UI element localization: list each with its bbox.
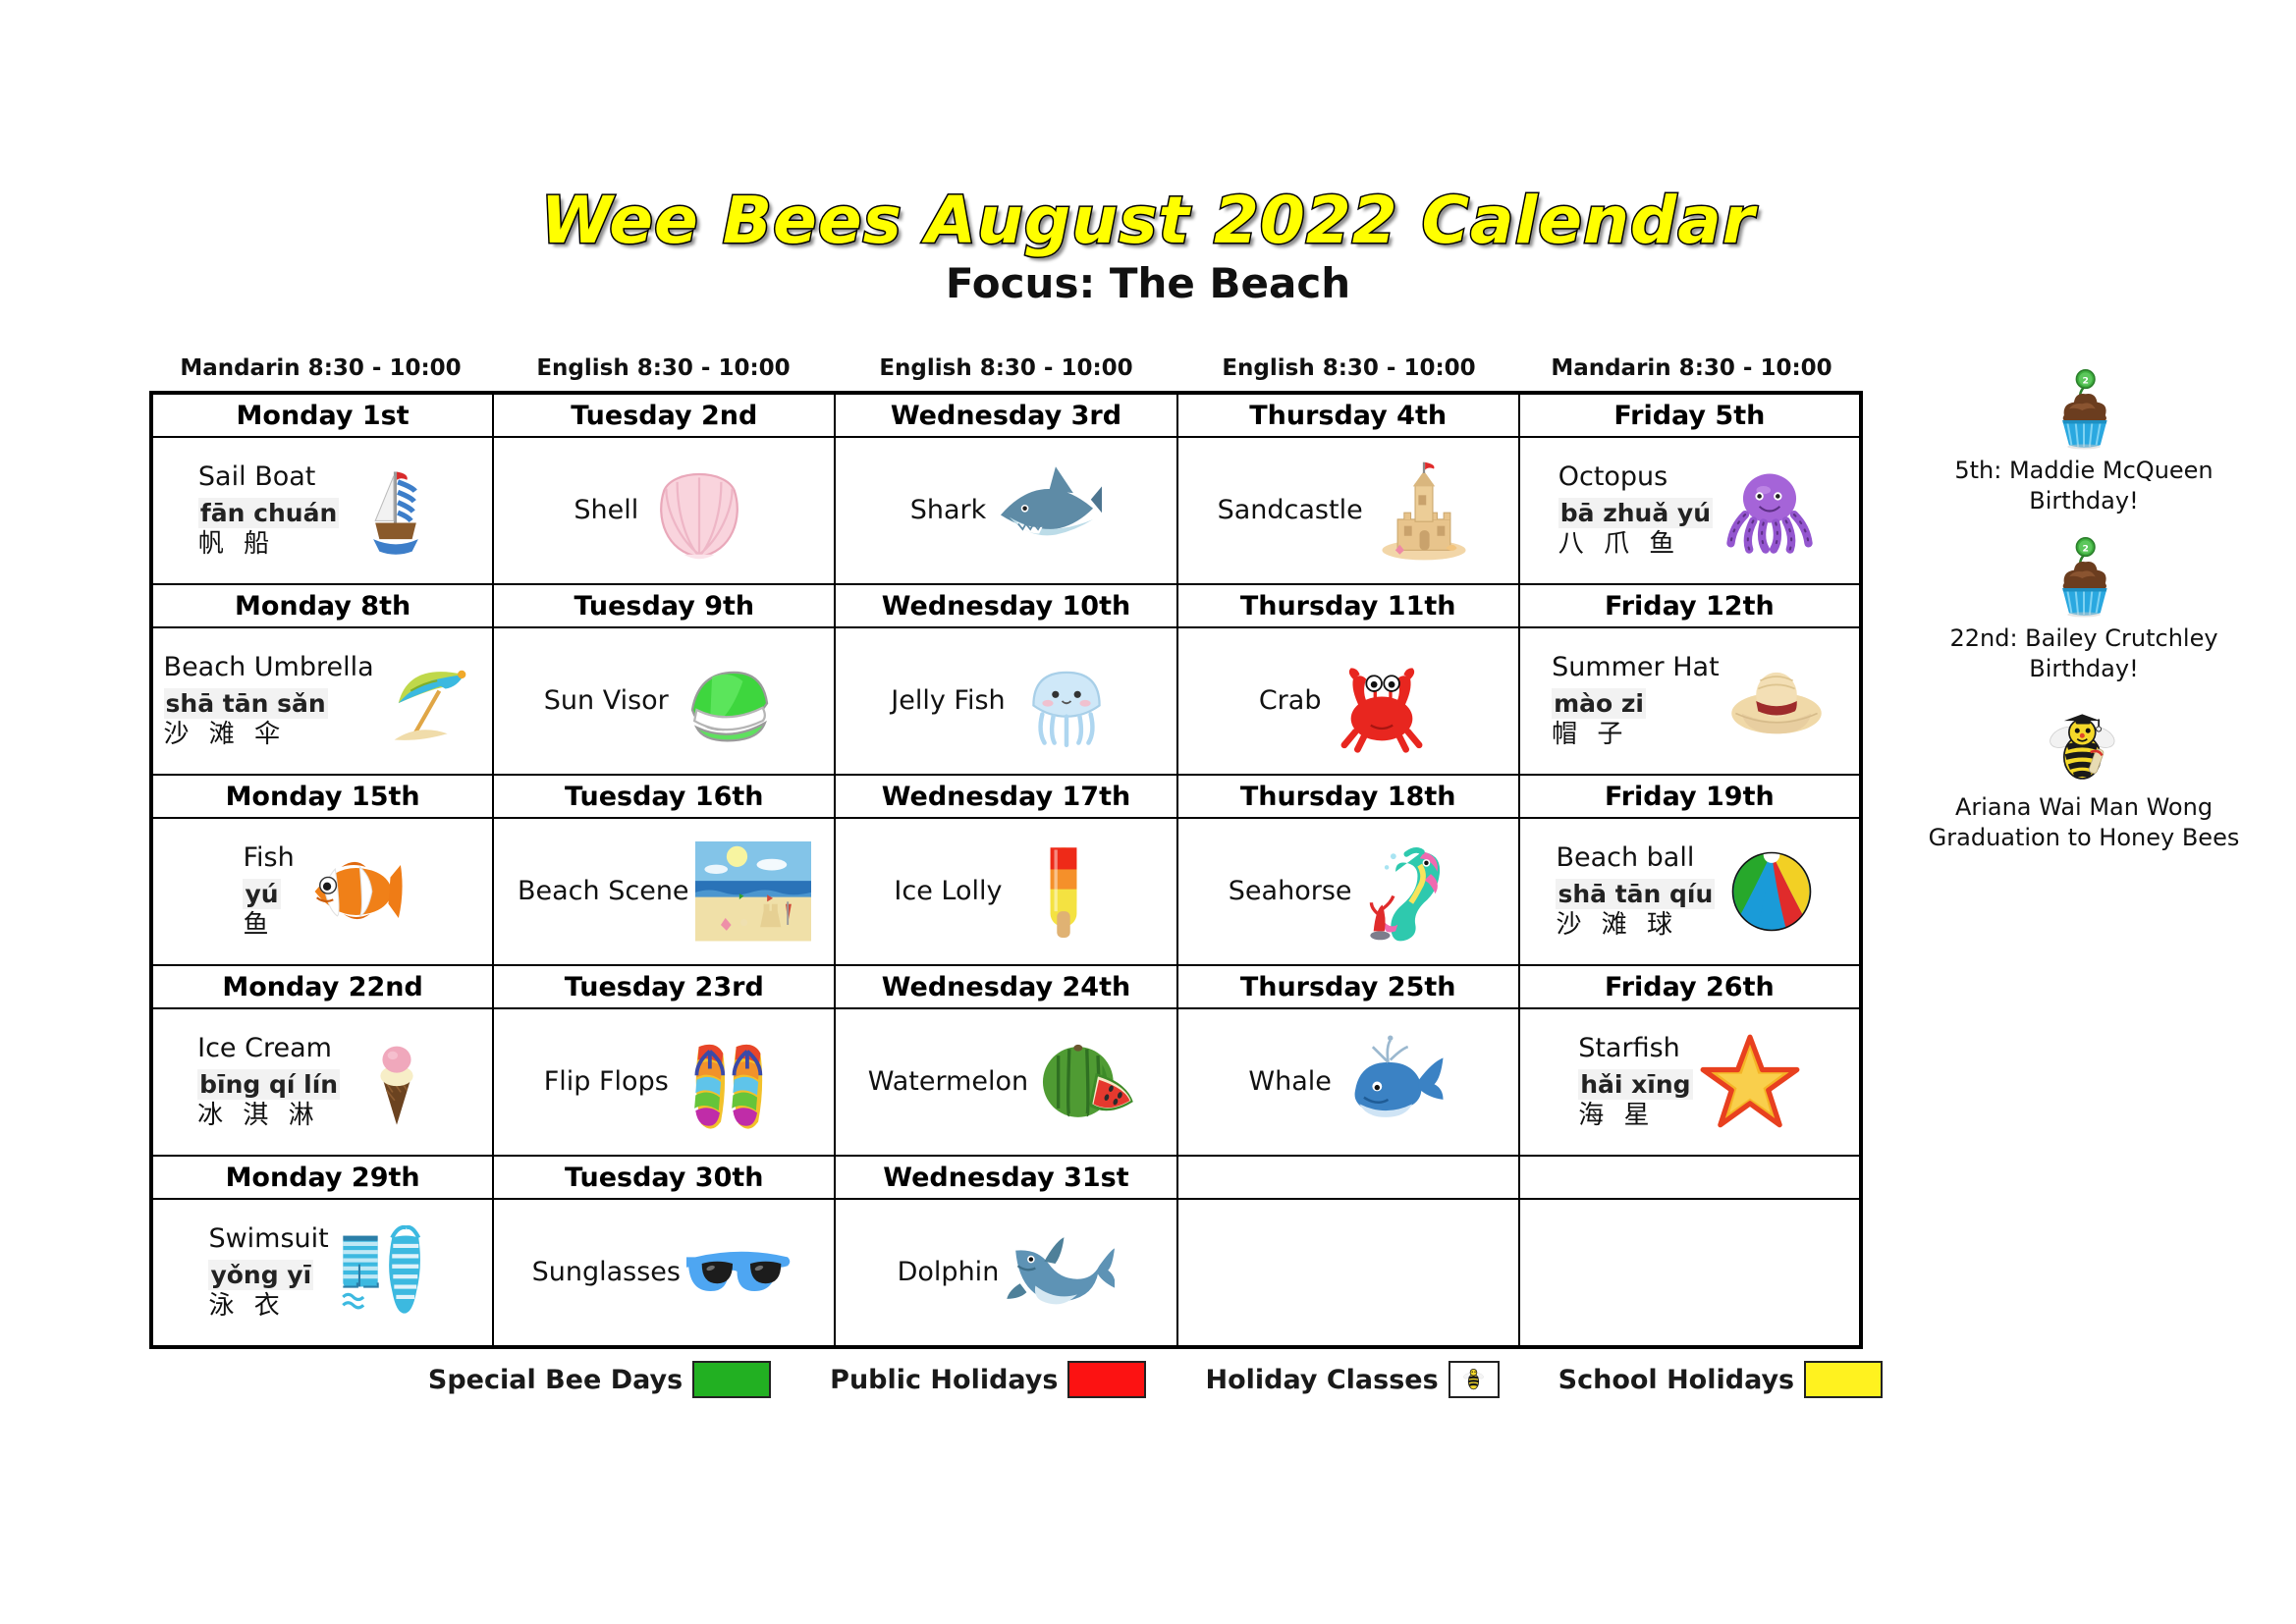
vocab-english: Jelly Fish <box>891 685 1005 718</box>
sidebar-event-caption: Ariana Wai Man Wong Graduation to Honey … <box>1922 792 2246 852</box>
vocab-chinese: 帆 船 <box>198 528 275 561</box>
vocab-english: Sunglasses <box>532 1257 681 1289</box>
day-cell-inner: Dolphin <box>836 1200 1175 1345</box>
timeslot-wednesday: English 8:30 - 10:00 <box>835 355 1177 391</box>
timeslot-tuesday: English 8:30 - 10:00 <box>492 355 835 391</box>
vocab-text-block: Sail Boatfān chuán帆 船 <box>198 461 339 561</box>
vocab-text-block: Fishyú鱼 <box>243 842 294 942</box>
day-cell-inner <box>1520 1200 1859 1345</box>
date-header-cell: Tuesday 9th <box>493 584 835 627</box>
vocab-english: Watermelon <box>868 1066 1028 1099</box>
day-cell-inner: Flip Flops <box>494 1009 834 1155</box>
legend-item: School Holidays <box>1558 1361 1883 1398</box>
day-cell-inner: Fishyú鱼 <box>153 819 492 964</box>
calendar-day-cell[interactable]: Sun Visor <box>493 627 835 775</box>
vocab-text-block: Shark <box>910 495 987 527</box>
sidebar-event-item: Ariana Wai Man Wong Graduation to Honey … <box>1922 704 2246 852</box>
svg-text:2: 2 <box>2082 544 2088 555</box>
legend-color-swatch <box>692 1361 771 1398</box>
timeslot-header-row: Mandarin 8:30 - 10:00 English 8:30 - 10:… <box>149 355 1863 391</box>
date-header-cell: Monday 29th <box>151 1156 493 1199</box>
day-cell-inner: Starfishhǎi xīng海 星 <box>1520 1009 1859 1155</box>
vocab-text-block: Jelly Fish <box>891 685 1005 718</box>
vocab-english: Starfish <box>1578 1033 1680 1065</box>
sidebar-event-item: 2 22nd: Bailey Crutchley Birthday! <box>1922 535 2246 683</box>
day-cell-inner: Sail Boatfān chuán帆 船 <box>153 438 492 583</box>
vocab-english: Dolphin <box>898 1257 1000 1289</box>
timeslot-friday: Mandarin 8:30 - 10:00 <box>1520 355 1863 391</box>
date-header-cell: Thursday 25th <box>1177 965 1519 1008</box>
vocab-english: Crab <box>1259 685 1322 718</box>
calendar-day-cell[interactable]: Beach ballshā tān qíu沙 滩 球 <box>1519 818 1861 965</box>
calendar-content-row: Sail Boatfān chuán帆 船 Shell Shark Sandca… <box>151 437 1861 584</box>
vocab-chinese: 沙 滩 伞 <box>164 719 287 751</box>
vocab-text-block: Sunglasses <box>532 1257 681 1289</box>
legend-label: Holiday Classes <box>1205 1365 1438 1395</box>
date-header-cell: Thursday 11th <box>1177 584 1519 627</box>
day-cell-inner: Whale <box>1178 1009 1518 1155</box>
vocab-english: Whale <box>1248 1066 1331 1099</box>
cupcake-icon: 2 <box>1922 535 2246 620</box>
calendar-day-cell[interactable]: Swimsuityǒng yī泳 衣 <box>151 1199 493 1347</box>
calendar-day-cell[interactable]: Octopusbā zhuǎ yú八 爪 鱼 <box>1519 437 1861 584</box>
vocab-text-block: Seahorse <box>1229 876 1352 908</box>
vocab-english: Sandcastle <box>1218 495 1363 527</box>
day-cell-inner: Ice Lolly <box>836 819 1175 964</box>
calendar-table: Monday 1stTuesday 2ndWednesday 3rdThursd… <box>149 391 1863 1349</box>
timeslot-monday: Mandarin 8:30 - 10:00 <box>149 355 492 391</box>
legend-item: Public Holidays <box>830 1361 1146 1398</box>
calendar-day-cell[interactable]: Ice Lolly <box>835 818 1176 965</box>
starfish-icon <box>1699 1031 1801 1133</box>
day-cell-inner: Octopusbā zhuǎ yú八 爪 鱼 <box>1520 438 1859 583</box>
date-header-cell: Monday 8th <box>151 584 493 627</box>
clownfish-icon <box>301 840 403 943</box>
vocab-chinese: 鱼 <box>243 909 274 942</box>
date-header-cell: Tuesday 16th <box>493 775 835 818</box>
vocab-text-block: Beach Umbrellashā tān sǎn沙 滩 伞 <box>164 652 374 751</box>
date-header-cell: Friday 19th <box>1519 775 1861 818</box>
calendar-day-cell[interactable]: Seahorse <box>1177 818 1519 965</box>
calendar-date-row: Monday 22ndTuesday 23rdWednesday 24thThu… <box>151 965 1861 1008</box>
vocab-text-block: Watermelon <box>868 1066 1028 1099</box>
vocab-chinese: 帽 子 <box>1552 719 1628 751</box>
vocab-text-block: Starfishhǎi xīng海 星 <box>1578 1033 1692 1132</box>
calendar-content-row: Swimsuityǒng yī泳 衣 Sunglasses Dolphin <box>151 1199 1861 1347</box>
calendar-content-row: Fishyú鱼 Beach Scene <box>151 818 1861 965</box>
vocab-pinyin: hǎi xīng <box>1578 1069 1692 1100</box>
legend-color-swatch <box>1067 1361 1146 1398</box>
day-cell-inner: Shark <box>836 438 1175 583</box>
vocab-english: Sun Visor <box>544 685 669 718</box>
vocab-text-block: Crab <box>1259 685 1322 718</box>
date-header-cell: Tuesday 2nd <box>493 393 835 437</box>
content-row: Mandarin 8:30 - 10:00 English 8:30 - 10:… <box>0 355 2296 1398</box>
day-cell-inner: Beach Scene <box>494 819 834 964</box>
page-body: Mandarin 8:30 - 10:00 English 8:30 - 10:… <box>0 355 2296 1398</box>
legend-color-swatch <box>1804 1361 1883 1398</box>
vocab-english: Fish <box>243 842 294 875</box>
calendar-day-cell[interactable]: Flip Flops <box>493 1008 835 1156</box>
vocab-chinese: 海 星 <box>1578 1100 1655 1132</box>
date-header-cell: Wednesday 31st <box>835 1156 1176 1199</box>
date-header-cell: Monday 22nd <box>151 965 493 1008</box>
vocab-chinese: 冰 淇 淋 <box>197 1100 320 1132</box>
vocab-english: Shark <box>910 495 987 527</box>
legend-label: School Holidays <box>1558 1365 1794 1395</box>
calendar-day-cell[interactable]: Fishyú鱼 <box>151 818 493 965</box>
beach-ball-icon <box>1721 840 1823 943</box>
calendar-date-row: Monday 29thTuesday 30thWednesday 31st <box>151 1156 1861 1199</box>
shark-icon <box>992 456 1102 566</box>
sandcastle-icon <box>1369 456 1479 566</box>
vocab-text-block: Beach ballshā tān qíu沙 滩 球 <box>1556 842 1715 942</box>
calendar-date-row: Monday 1stTuesday 2ndWednesday 3rdThursd… <box>151 393 1861 437</box>
calendar-day-cell[interactable]: Summer Hatmào zi帽 子 <box>1519 627 1861 775</box>
vocab-english: Summer Hat <box>1552 652 1720 684</box>
page-subtitle: Focus: The Beach <box>0 262 2296 305</box>
date-header-cell: Monday 1st <box>151 393 493 437</box>
day-cell-inner: Summer Hatmào zi帽 子 <box>1520 628 1859 774</box>
sunglasses-icon <box>686 1218 796 1327</box>
legend-bee-swatch <box>1449 1361 1500 1398</box>
vocab-english: Ice Cream <box>197 1033 332 1065</box>
date-header-cell: Wednesday 17th <box>835 775 1176 818</box>
beach-scene-icon <box>695 841 811 941</box>
vocab-english: Flip Flops <box>544 1066 669 1099</box>
vocab-text-block: Sandcastle <box>1218 495 1363 527</box>
date-header-cell: Friday 26th <box>1519 965 1861 1008</box>
page-header: Wee Bees August 2022 Calendar Focus: The… <box>0 0 2296 305</box>
sidebar-event-caption: 5th: Maddie McQueen Birthday! <box>1922 456 2246 515</box>
day-cell-inner: Shell <box>494 438 834 583</box>
vocab-text-block: Shell <box>574 495 638 527</box>
vocab-text-block: Summer Hatmào zi帽 子 <box>1552 652 1720 751</box>
day-cell-inner: Swimsuityǒng yī泳 衣 <box>153 1200 492 1345</box>
calendar-section: Mandarin 8:30 - 10:00 English 8:30 - 10:… <box>149 355 1863 1398</box>
vocab-text-block: Ice Lolly <box>894 876 1002 908</box>
sun-visor-icon <box>675 646 785 756</box>
vocab-text-block: Flip Flops <box>544 1066 669 1099</box>
vocab-chinese: 泳 衣 <box>208 1290 285 1323</box>
vocab-pinyin: bā zhuǎ yú <box>1558 498 1713 528</box>
vocab-pinyin: shā tān sǎn <box>164 688 328 719</box>
vocab-english: Ice Lolly <box>894 876 1002 908</box>
summer-hat-icon <box>1725 650 1828 752</box>
jellyfish-icon <box>1011 646 1121 756</box>
date-header-cell: Thursday 18th <box>1177 775 1519 818</box>
date-header-cell: Wednesday 10th <box>835 584 1176 627</box>
calendar-day-cell[interactable]: Shell <box>493 437 835 584</box>
day-cell-inner: Seahorse <box>1178 819 1518 964</box>
day-cell-inner: Sandcastle <box>1178 438 1518 583</box>
vocab-pinyin: shā tān qíu <box>1556 879 1715 909</box>
events-sidebar: 2 5th: Maddie McQueen Birthday! 2 22nd: … <box>1922 355 2246 872</box>
calendar-day-cell[interactable]: Sail Boatfān chuán帆 船 <box>151 437 493 584</box>
svg-text:2: 2 <box>2082 375 2088 386</box>
ice-lolly-icon <box>1009 837 1119 947</box>
seahorse-icon <box>1358 837 1468 947</box>
date-header-cell: Friday 12th <box>1519 584 1861 627</box>
calendar-day-cell[interactable]: Starfishhǎi xīng海 星 <box>1519 1008 1861 1156</box>
vocab-english: Octopus <box>1558 461 1668 494</box>
day-cell-inner: Beach Umbrellashā tān sǎn沙 滩 伞 <box>153 628 492 774</box>
date-header-cell: Monday 15th <box>151 775 493 818</box>
calendar-day-cell[interactable]: Watermelon <box>835 1008 1176 1156</box>
vocab-text-block: Beach Scene <box>518 876 689 908</box>
legend: Special Bee DaysPublic HolidaysHoliday C… <box>299 1361 2012 1398</box>
timeslot-thursday: English 8:30 - 10:00 <box>1177 355 1520 391</box>
swimsuit-icon <box>335 1221 437 1324</box>
vocab-pinyin: yǒng yī <box>208 1260 313 1290</box>
date-header-cell: Wednesday 24th <box>835 965 1176 1008</box>
day-cell-inner: Watermelon <box>836 1009 1175 1155</box>
vocab-pinyin: yú <box>243 879 280 909</box>
day-cell-inner: Jelly Fish <box>836 628 1175 774</box>
calendar-date-row: Monday 8thTuesday 9thWednesday 10thThurs… <box>151 584 1861 627</box>
sailboat-icon <box>345 460 447 562</box>
vocab-text-block: Octopusbā zhuǎ yú八 爪 鱼 <box>1558 461 1713 561</box>
shell-icon <box>644 456 754 566</box>
graduation-bee-icon <box>1922 704 2246 788</box>
dolphin-icon <box>1005 1218 1115 1327</box>
ice-cream-icon <box>346 1031 448 1133</box>
empty-date-cell <box>1177 1156 1519 1199</box>
vocab-english: Swimsuit <box>208 1223 328 1256</box>
vocab-pinyin: bīng qí lín <box>197 1069 340 1100</box>
legend-label: Special Bee Days <box>428 1365 683 1395</box>
vocab-english: Shell <box>574 495 638 527</box>
calendar-day-cell[interactable]: Sunglasses <box>493 1199 835 1347</box>
calendar-day-cell[interactable]: Shark <box>835 437 1176 584</box>
day-cell-inner: Sunglasses <box>494 1200 834 1345</box>
vocab-chinese: 沙 滩 球 <box>1556 909 1678 942</box>
flip-flops-icon <box>675 1027 785 1137</box>
calendar-day-cell[interactable]: Ice Creambīng qí lín冰 淇 淋 <box>151 1008 493 1156</box>
calendar-day-cell[interactable]: Beach Scene <box>493 818 835 965</box>
vocab-english: Seahorse <box>1229 876 1352 908</box>
calendar-day-cell[interactable]: Crab <box>1177 627 1519 775</box>
cupcake-icon: 2 <box>1922 367 2246 452</box>
empty-date-cell <box>1519 1156 1861 1199</box>
vocab-english: Beach Umbrella <box>164 652 374 684</box>
sidebar-event-caption: 22nd: Bailey Crutchley Birthday! <box>1922 623 2246 683</box>
vocab-text-block: Whale <box>1248 1066 1331 1099</box>
legend-item: Special Bee Days <box>428 1361 771 1398</box>
date-header-cell: Friday 5th <box>1519 393 1861 437</box>
day-cell-inner: Crab <box>1178 628 1518 774</box>
vocab-text-block: Sun Visor <box>544 685 669 718</box>
empty-day-cell[interactable] <box>1519 1199 1861 1347</box>
calendar-date-row: Monday 15thTuesday 16thWednesday 17thThu… <box>151 775 1861 818</box>
page-title: Wee Bees August 2022 Calendar <box>0 187 2296 254</box>
vocab-pinyin: fān chuán <box>198 498 339 528</box>
day-cell-inner: Beach ballshā tān qíu沙 滩 球 <box>1520 819 1859 964</box>
vocab-english: Beach ball <box>1556 842 1694 875</box>
calendar-day-cell[interactable]: Jelly Fish <box>835 627 1176 775</box>
day-cell-inner <box>1178 1200 1518 1345</box>
calendar-content-row: Beach Umbrellashā tān sǎn沙 滩 伞 Sun Visor… <box>151 627 1861 775</box>
sidebar-event-item: 2 5th: Maddie McQueen Birthday! <box>1922 367 2246 515</box>
vocab-pinyin: mào zi <box>1552 688 1646 719</box>
date-header-cell: Thursday 4th <box>1177 393 1519 437</box>
date-header-cell: Tuesday 30th <box>493 1156 835 1199</box>
vocab-text-block: Swimsuityǒng yī泳 衣 <box>208 1223 328 1323</box>
date-header-cell: Tuesday 23rd <box>493 965 835 1008</box>
whale-icon <box>1338 1027 1448 1137</box>
calendar-day-cell[interactable]: Sandcastle <box>1177 437 1519 584</box>
watermelon-icon <box>1034 1027 1144 1137</box>
empty-day-cell[interactable] <box>1177 1199 1519 1347</box>
vocab-english: Beach Scene <box>518 876 689 908</box>
crab-icon <box>1327 646 1437 756</box>
calendar-day-cell[interactable]: Whale <box>1177 1008 1519 1156</box>
beach-umbrella-icon <box>380 650 482 752</box>
calendar-content-row: Ice Creambīng qí lín冰 淇 淋 Flip Flops <box>151 1008 1861 1156</box>
date-header-cell: Wednesday 3rd <box>835 393 1176 437</box>
legend-item: Holiday Classes <box>1205 1361 1499 1398</box>
octopus-icon <box>1719 460 1821 562</box>
calendar-day-cell[interactable]: Beach Umbrellashā tān sǎn沙 滩 伞 <box>151 627 493 775</box>
vocab-text-block: Dolphin <box>898 1257 1000 1289</box>
day-cell-inner: Sun Visor <box>494 628 834 774</box>
day-cell-inner: Ice Creambīng qí lín冰 淇 淋 <box>153 1009 492 1155</box>
vocab-chinese: 八 爪 鱼 <box>1558 528 1681 561</box>
calendar-day-cell[interactable]: Dolphin <box>835 1199 1176 1347</box>
vocab-text-block: Ice Creambīng qí lín冰 淇 淋 <box>197 1033 340 1132</box>
legend-label: Public Holidays <box>830 1365 1058 1395</box>
vocab-english: Sail Boat <box>198 461 315 494</box>
